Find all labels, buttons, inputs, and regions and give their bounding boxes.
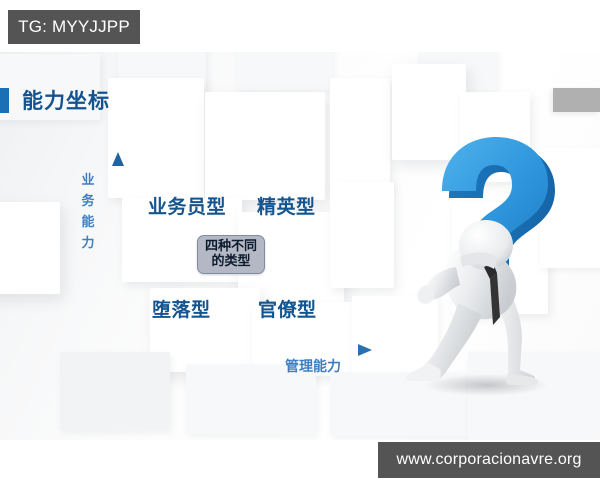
x-axis-label: 管理能力	[285, 356, 341, 376]
y-axis-label-char: 业	[78, 170, 98, 191]
quadrant-label-top-left: 业务员型	[148, 192, 226, 219]
quadrant-label-bottom-left: 堕落型	[152, 295, 211, 322]
y-axis-label: 业 务 能 力	[78, 170, 98, 254]
y-axis-label-char: 能	[78, 212, 98, 233]
y-axis-label-char: 务	[78, 191, 98, 212]
quadrant-label-bottom-right: 官僚型	[258, 295, 317, 322]
quadrant-label-top-right: 精英型	[257, 192, 316, 219]
y-axis-label-char: 力	[78, 233, 98, 254]
capability-quadrant-chart: 业 务 能 力 管理能力 业务员型 精英型 堕落型 官僚型 四种不同 的类型	[0, 52, 600, 440]
center-note-badge: 四种不同 的类型	[197, 235, 265, 274]
site-url-watermark: www.corporacionavre.org	[378, 442, 600, 478]
slide-canvas: 能力坐标	[0, 52, 600, 440]
center-note-line-1: 四种不同	[205, 239, 257, 254]
telegram-tag-watermark: TG: MYYJJPP	[8, 10, 140, 44]
center-note-line-2: 的类型	[205, 254, 257, 269]
